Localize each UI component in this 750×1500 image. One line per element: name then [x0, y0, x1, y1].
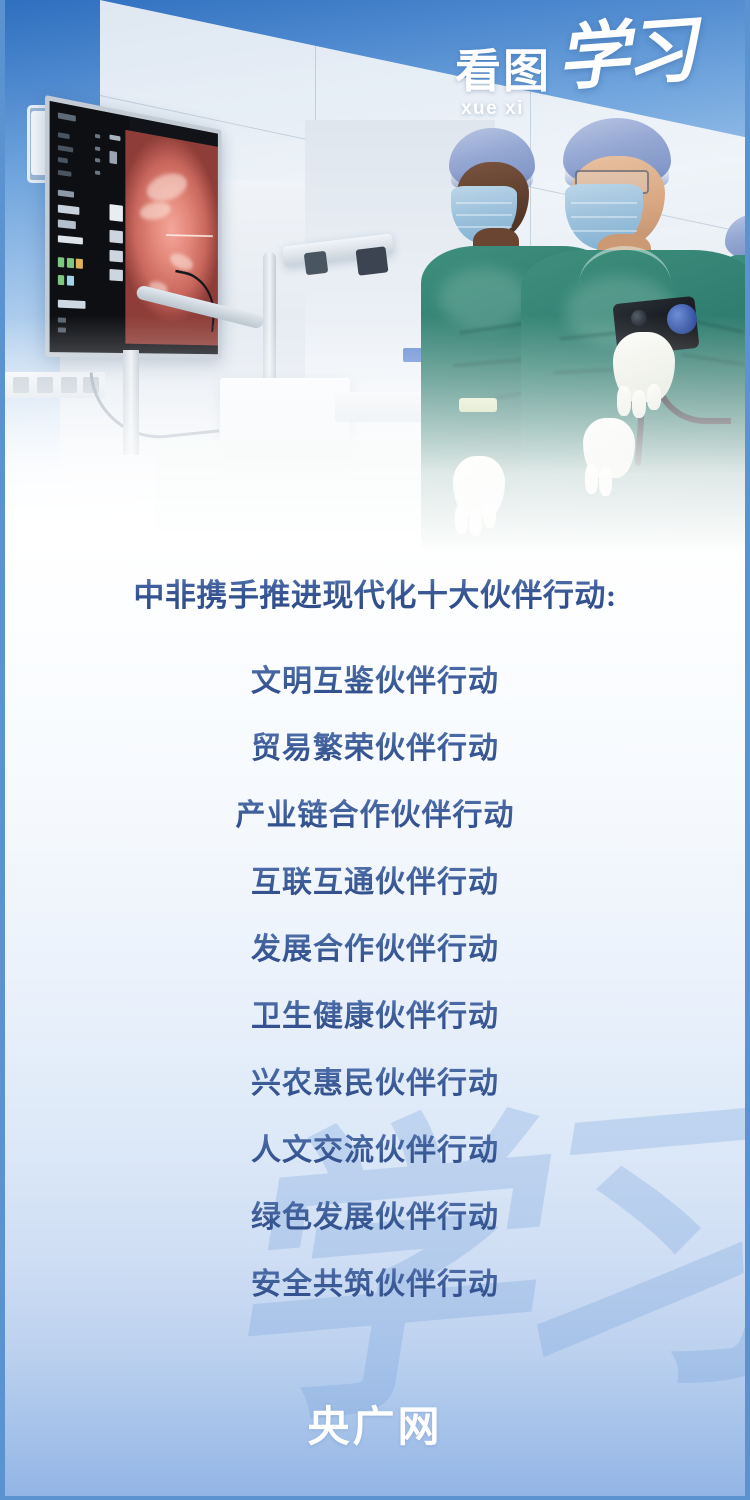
list-item: 绿色发展伙伴行动: [5, 1184, 745, 1251]
list-item: 产业链合作伙伴行动: [5, 782, 745, 849]
list-item: 卫生健康伙伴行动: [5, 983, 745, 1050]
footer: 央广网: [5, 1351, 745, 1496]
kantu-xuexi-logo: 看图 学习 xue xi: [455, 48, 693, 120]
boom-clamp: [304, 251, 329, 276]
list-item: 发展合作伙伴行动: [5, 916, 745, 983]
boom-camera-head: [356, 246, 389, 275]
list-item: 人文交流伙伴行动: [5, 1117, 745, 1184]
page-title: 中非携手推进现代化十大伙伴行动:: [5, 570, 745, 615]
list-item: 安全共筑伙伴行动: [5, 1251, 745, 1318]
partnership-action-list: 文明互鉴伙伴行动 贸易繁荣伙伴行动 产业链合作伙伴行动 互联互通伙伴行动 发展合…: [5, 648, 745, 1318]
logo-chinese-text: 看图: [455, 48, 551, 94]
logo-pinyin: xue xi: [461, 98, 693, 120]
list-item: 兴农惠民伙伴行动: [5, 1050, 745, 1117]
logo-calligraphy-text: 学习: [555, 21, 695, 89]
list-item: 贸易繁荣伙伴行动: [5, 715, 745, 782]
list-item: 互联互通伙伴行动: [5, 849, 745, 916]
endoscope-wire: [166, 235, 213, 238]
cnr-brand-logo: 央广网: [307, 1393, 442, 1454]
list-item: 文明互鉴伙伴行动: [5, 648, 745, 715]
photo-fade-overlay: [5, 315, 750, 555]
poster-root: 看图 学习 xue xi 学习 中非携手推进现代化十大伙伴行动: 文明互鉴伙伴行…: [0, 0, 750, 1500]
